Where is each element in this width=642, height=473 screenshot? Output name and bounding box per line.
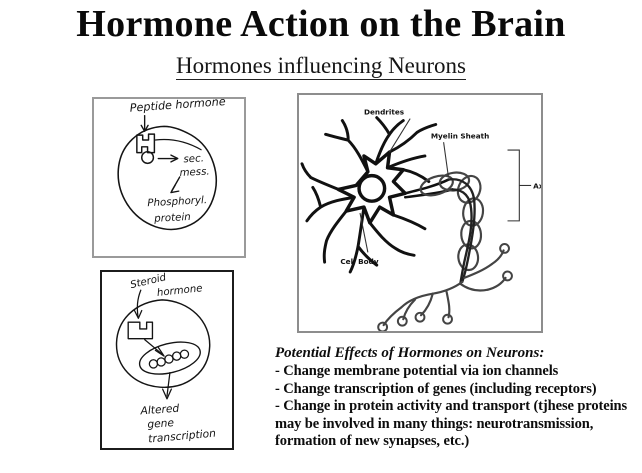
phospho-arrow-head bbox=[171, 185, 179, 193]
page-title: Hormone Action on the Brain bbox=[0, 2, 642, 46]
effects-line-1: - Change membrane potential via ion chan… bbox=[275, 363, 641, 381]
receptor-shape bbox=[128, 322, 152, 338]
label-cell-body: Cell Body bbox=[340, 257, 379, 266]
steroid-hormone-sketch-panel: Steroid hormone Altered gene transcripti… bbox=[100, 270, 234, 450]
nucleus bbox=[359, 176, 385, 202]
effects-text-block: Potential Effects of Hormones on Neurons… bbox=[275, 344, 641, 451]
label-hormone: hormone bbox=[156, 283, 203, 299]
effects-line-2: - Change transcription of genes (includi… bbox=[275, 381, 641, 399]
hormone-ligand bbox=[142, 152, 154, 164]
receptor-shape bbox=[137, 134, 155, 153]
dna-beads bbox=[149, 350, 188, 368]
label-axon: Axon bbox=[533, 181, 541, 190]
label-protein: protein bbox=[153, 212, 191, 225]
label-sec: sec. bbox=[183, 153, 204, 165]
label-peptide-hormone: Peptide hormone bbox=[129, 99, 226, 115]
page-subtitle-text: Hormones influencing Neurons bbox=[176, 53, 466, 80]
label-phosphoryl: Phosphoryl. bbox=[147, 195, 207, 209]
label-mess: mess. bbox=[179, 166, 210, 179]
label-altered: Altered bbox=[139, 402, 180, 418]
neuron-diagram-panel: Dendrites Myelin Sheath Axon Cell Body bbox=[297, 93, 543, 333]
slide-canvas: Hormone Action on the Brain Hormones inf… bbox=[0, 0, 642, 473]
steroid-hormone-sketch-svg: Steroid hormone Altered gene transcripti… bbox=[102, 272, 232, 448]
label-dendrites: Dendrites bbox=[364, 108, 404, 117]
label-gene: gene bbox=[147, 416, 175, 431]
label-myelin-sheath: Myelin Sheath bbox=[431, 131, 489, 140]
effects-heading: Potential Effects of Hormones on Neurons… bbox=[275, 344, 641, 362]
effects-line-3: - Change in protein activity and transpo… bbox=[275, 398, 641, 451]
peptide-hormone-sketch-svg: Peptide hormone sec. mess. Phosphoryl. p… bbox=[94, 99, 244, 256]
axon-terminals bbox=[384, 250, 506, 325]
page-subtitle: Hormones influencing Neurons bbox=[0, 52, 642, 80]
peptide-hormone-sketch-panel: Peptide hormone sec. mess. Phosphoryl. p… bbox=[92, 97, 246, 258]
neuron-soma-dendrites bbox=[338, 152, 405, 223]
neuron-diagram-svg: Dendrites Myelin Sheath Axon Cell Body bbox=[299, 95, 541, 331]
membrane-curve bbox=[155, 140, 201, 150]
